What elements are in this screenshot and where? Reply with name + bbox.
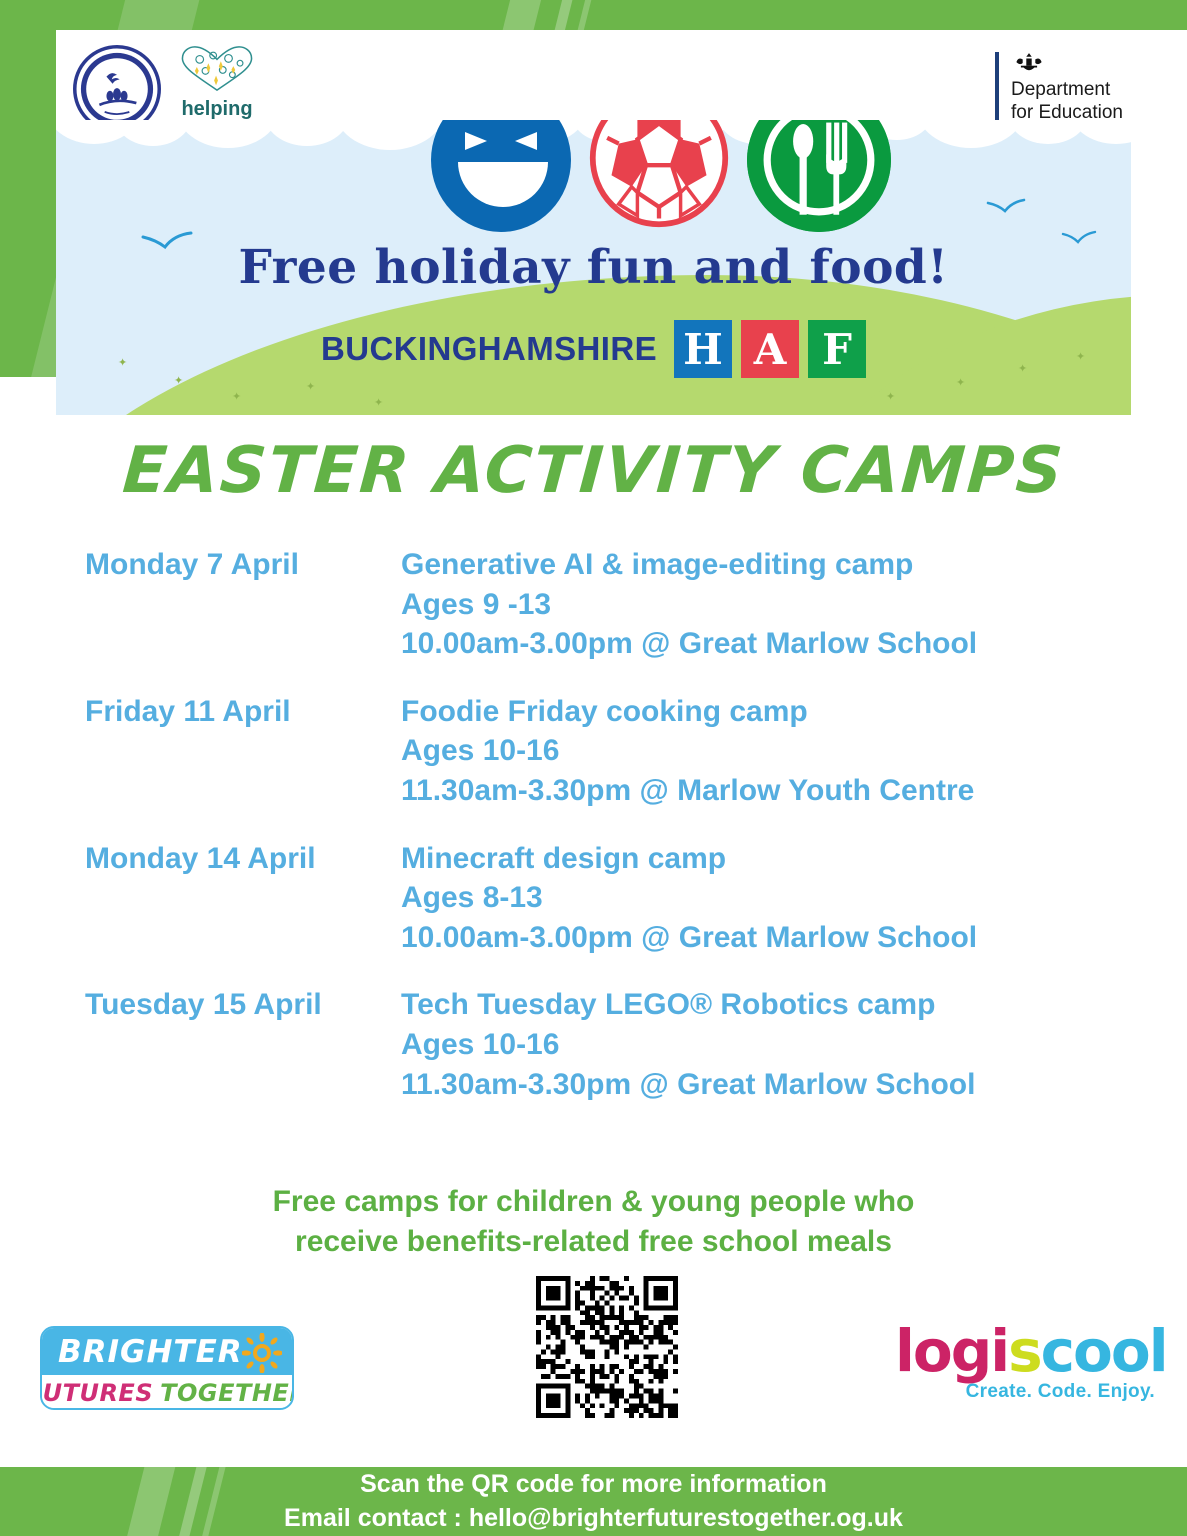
department-for-education-logo: Department for Education (995, 52, 1130, 120)
banner-icons (431, 120, 891, 240)
footer-line-1: Scan the QR code for more information (360, 1468, 827, 1502)
card-left-fill (0, 377, 56, 1467)
event-row: Friday 11 April Foodie Friday cooking ca… (56, 692, 1131, 811)
footer: Scan the QR code for more information Em… (0, 1467, 1187, 1536)
heart-icon (171, 44, 263, 92)
event-camp-name: Tech Tuesday LEGO® Robotics camp (401, 985, 1131, 1025)
event-time-venue: 10.00am-3.00pm @ Great Marlow School (401, 918, 1131, 958)
bft-word-futures: FUTURES (40, 1379, 153, 1407)
county-label: BUCKINGHAMSHIRE (321, 330, 657, 368)
event-detail: Generative AI & image-editing camp Ages … (401, 545, 1131, 664)
banner-headline: Free holiday fun and food! (56, 240, 1131, 295)
event-time-venue: 11.30am-3.30pm @ Great Marlow School (401, 1065, 1131, 1105)
event-detail: Minecraft design camp Ages 8-13 10.00am-… (401, 839, 1131, 958)
logiscool-part-logi: logi (895, 1317, 1008, 1385)
logiscool-part-cool: cool (1041, 1317, 1167, 1385)
event-time-venue: 11.30am-3.30pm @ Marlow Youth Centre (401, 771, 1131, 811)
logiscool-logo: logiscool Create. Code. Enjoy. (895, 1324, 1155, 1414)
haf-tile-h: H (674, 320, 732, 378)
sun-icon (242, 1333, 282, 1373)
haf-banner: ✦ ✦ ✦ ✦ ✦ ✦ ✦ ✦ ✦ (56, 120, 1131, 415)
event-row: Monday 14 April Minecraft design camp Ag… (56, 839, 1131, 958)
football-icon (587, 120, 731, 235)
event-row: Monday 7 April Generative AI & image-edi… (56, 545, 1131, 664)
event-row: Tuesday 15 April Tech Tuesday LEGO® Robo… (56, 985, 1131, 1104)
royal-crest-icon (1011, 52, 1047, 74)
eligibility-note: Free camps for children & young people w… (56, 1182, 1131, 1262)
page-title: EASTER ACTIVITY CAMPS (53, 434, 1133, 508)
brighter-futures-together-logo: BRIGHTER FUTURE (40, 1326, 294, 1410)
haf-tile-f: F (808, 320, 866, 378)
event-ages: Ages 10-16 (401, 1025, 1131, 1065)
event-ages: Ages 10-16 (401, 731, 1131, 771)
footer-line-2: Email contact : hello@brighterfuturestog… (284, 1502, 903, 1536)
event-detail: Foodie Friday cooking camp Ages 10-16 11… (401, 692, 1131, 811)
events-list: Monday 7 April Generative AI & image-edi… (56, 545, 1131, 1132)
haf-tile-a: A (741, 320, 799, 378)
bft-word-together: TOGETHER (160, 1379, 294, 1407)
haf-logo: BUCKINGHAMSHIRE H A F (56, 320, 1131, 378)
helping-hand-word-1: helping (171, 99, 263, 119)
event-date: Monday 14 April (56, 839, 401, 958)
eligibility-note-line-2: receive benefits-related free school mea… (56, 1222, 1131, 1262)
event-date: Friday 11 April (56, 692, 401, 811)
bft-word-brighter: BRIGHTER (58, 1334, 243, 1370)
event-ages: Ages 8-13 (401, 878, 1131, 918)
event-detail: Tech Tuesday LEGO® Robotics camp Ages 10… (401, 985, 1131, 1104)
smiley-face-icon (431, 120, 571, 232)
plate-cutlery-icon (747, 120, 891, 232)
event-date: Monday 7 April (56, 545, 401, 664)
dfe-line-1: Department (1011, 79, 1130, 102)
event-camp-name: Minecraft design camp (401, 839, 1131, 879)
event-camp-name: Generative AI & image-editing camp (401, 545, 1131, 585)
qr-code[interactable] (532, 1276, 682, 1418)
event-date: Tuesday 15 April (56, 985, 401, 1104)
event-time-venue: 10.00am-3.00pm @ Great Marlow School (401, 624, 1131, 664)
event-ages: Ages 9 -13 (401, 585, 1131, 625)
event-camp-name: Foodie Friday cooking camp (401, 692, 1131, 732)
eligibility-note-line-1: Free camps for children & young people w… (56, 1182, 1131, 1222)
logiscool-part-s: s (1008, 1317, 1041, 1385)
bird-icon (986, 198, 1026, 216)
poster: est. 2020 helping hand (0, 0, 1187, 1536)
